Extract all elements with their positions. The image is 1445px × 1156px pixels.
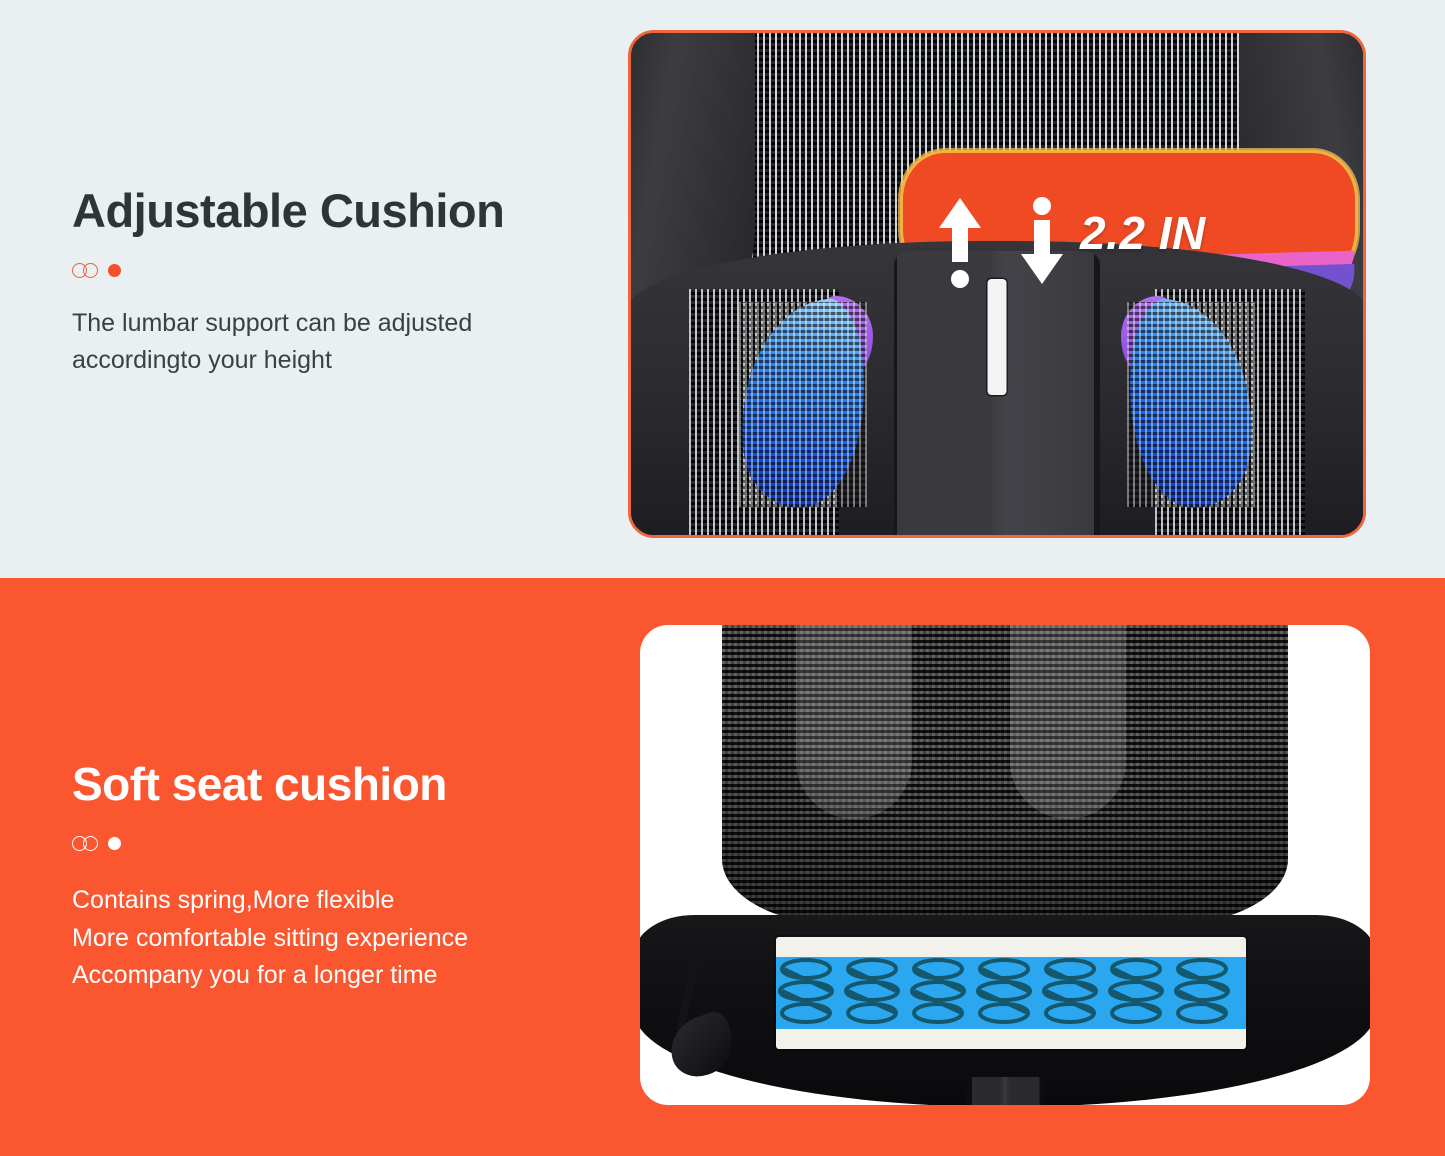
gas-lift-column <box>966 1077 1044 1105</box>
seat-cushion-photo <box>640 625 1370 1105</box>
page-title-adjustable-cushion: Adjustable Cushion <box>72 186 612 235</box>
soft-seat-cushion-line-3: Accompany you for a longer time <box>72 961 437 989</box>
adjustment-range-annotation: 2.2 IN <box>928 196 1208 296</box>
soft-seat-cushion-line-2: More comfortable sitting experience <box>72 924 468 952</box>
soft-seat-cushion-copy: Soft seat cushion Contains spring,More f… <box>72 760 612 995</box>
lumbar-wing-right <box>1127 302 1255 507</box>
solid-dot-icon <box>108 264 121 277</box>
wing-mesh-overlay-left <box>739 302 867 507</box>
solid-dot-icon <box>108 837 121 850</box>
adjustable-cushion-description: The lumbar support can be adjusted accor… <box>72 305 612 379</box>
adjustment-slot <box>988 279 1007 395</box>
page-title-soft-seat-cushion: Soft seat cushion <box>72 760 612 808</box>
backrest-shading-overlay <box>722 625 1288 925</box>
adjustable-cushion-line-2: accordingto your height <box>72 346 332 374</box>
soft-seat-cushion-description: Contains spring,More flexible More comfo… <box>72 882 612 995</box>
measurement-label: 2.2 IN <box>1080 210 1206 256</box>
arrow-up-icon <box>936 196 984 293</box>
spring-coil-band <box>776 957 1246 1029</box>
arrow-down-icon <box>1018 196 1066 293</box>
soft-seat-cushion-line-1: Contains spring,More flexible <box>72 886 394 914</box>
decoration-adjustable-cushion <box>72 261 612 279</box>
two-overlapping-rings-icon <box>72 263 99 278</box>
wing-mesh-overlay-right <box>1127 302 1255 507</box>
seat-backrest-mesh <box>722 625 1288 925</box>
two-overlapping-rings-icon <box>72 836 99 851</box>
spring-coils-icon <box>776 957 1246 1029</box>
section-adjustable-cushion: Adjustable Cushion The lumbar support ca… <box>0 0 1445 578</box>
seat-foam-cutaway <box>776 937 1246 1049</box>
adjustable-cushion-line-1: The lumbar support can be adjusted <box>72 309 472 337</box>
decoration-soft-seat-cushion <box>72 834 612 852</box>
adjustable-cushion-copy: Adjustable Cushion The lumbar support ca… <box>72 186 612 379</box>
lumbar-wing-left <box>739 302 867 507</box>
